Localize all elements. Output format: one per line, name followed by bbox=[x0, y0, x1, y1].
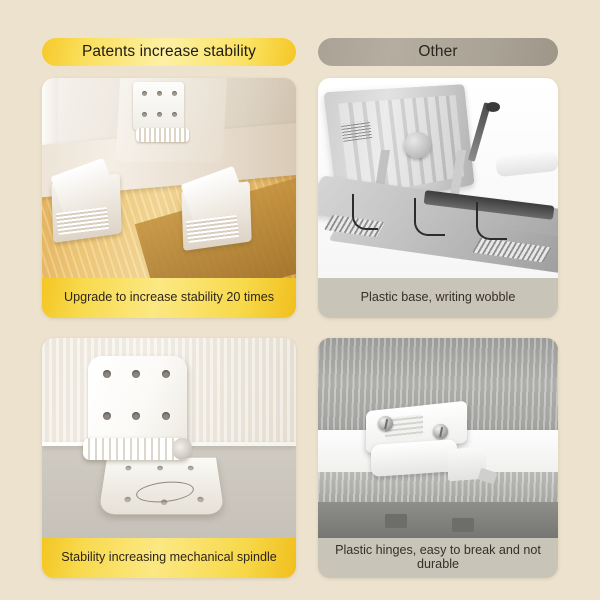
card-top-left: Upgrade to increase stability 20 times bbox=[42, 78, 296, 318]
lower-nub-right bbox=[452, 518, 474, 532]
caption-top-right: Plastic base, writing wobble bbox=[318, 278, 558, 318]
hinge-plate bbox=[133, 82, 184, 130]
wire-one bbox=[352, 194, 378, 230]
lower-nub-left bbox=[385, 514, 407, 528]
caption-bottom-left: Stability increasing mechanical spindle bbox=[42, 538, 296, 578]
shadow-band bbox=[318, 502, 558, 538]
hinge-top-plate bbox=[88, 356, 187, 446]
photo-metal-hinge-closeup bbox=[42, 338, 296, 538]
hinge-knuckle bbox=[136, 128, 189, 142]
plastic-knuckle-body bbox=[371, 439, 457, 477]
header-pill-good: Patents increase stability bbox=[42, 38, 296, 66]
wire-two bbox=[414, 198, 445, 236]
card-bottom-right: Plastic hinges, easy to break and not du… bbox=[318, 338, 558, 578]
white-arm bbox=[495, 151, 558, 177]
photo-wood-desk-stand bbox=[42, 78, 296, 278]
caption-text: Stability increasing mechanical spindle bbox=[61, 551, 277, 565]
caption-bottom-right: Plastic hinges, easy to break and not du… bbox=[318, 538, 558, 578]
lower-wood-surface bbox=[318, 472, 558, 504]
comparison-infographic: Patents increase stability Other bbox=[0, 0, 600, 600]
caption-top-left: Upgrade to increase stability 20 times bbox=[42, 278, 296, 318]
screw-left bbox=[378, 416, 393, 431]
caption-text: Plastic hinges, easy to break and not du… bbox=[318, 544, 558, 572]
header-other-label: Other bbox=[418, 43, 457, 61]
spindle-end-cap bbox=[172, 438, 192, 460]
photo-gray-plastic-stand bbox=[318, 78, 558, 278]
card-bottom-left: Stability increasing mechanical spindle bbox=[42, 338, 296, 578]
caption-text: Upgrade to increase stability 20 times bbox=[64, 291, 274, 305]
photo-plastic-hinge-closeup bbox=[318, 338, 558, 538]
card-top-right: Plastic base, writing wobble bbox=[318, 78, 558, 318]
rod-tip bbox=[486, 102, 500, 112]
wire-three bbox=[476, 202, 507, 240]
header-row: Patents increase stability Other bbox=[0, 38, 600, 68]
header-good-label: Patents increase stability bbox=[82, 43, 256, 61]
header-pill-other: Other bbox=[318, 38, 558, 66]
caption-text: Plastic base, writing wobble bbox=[361, 291, 516, 305]
